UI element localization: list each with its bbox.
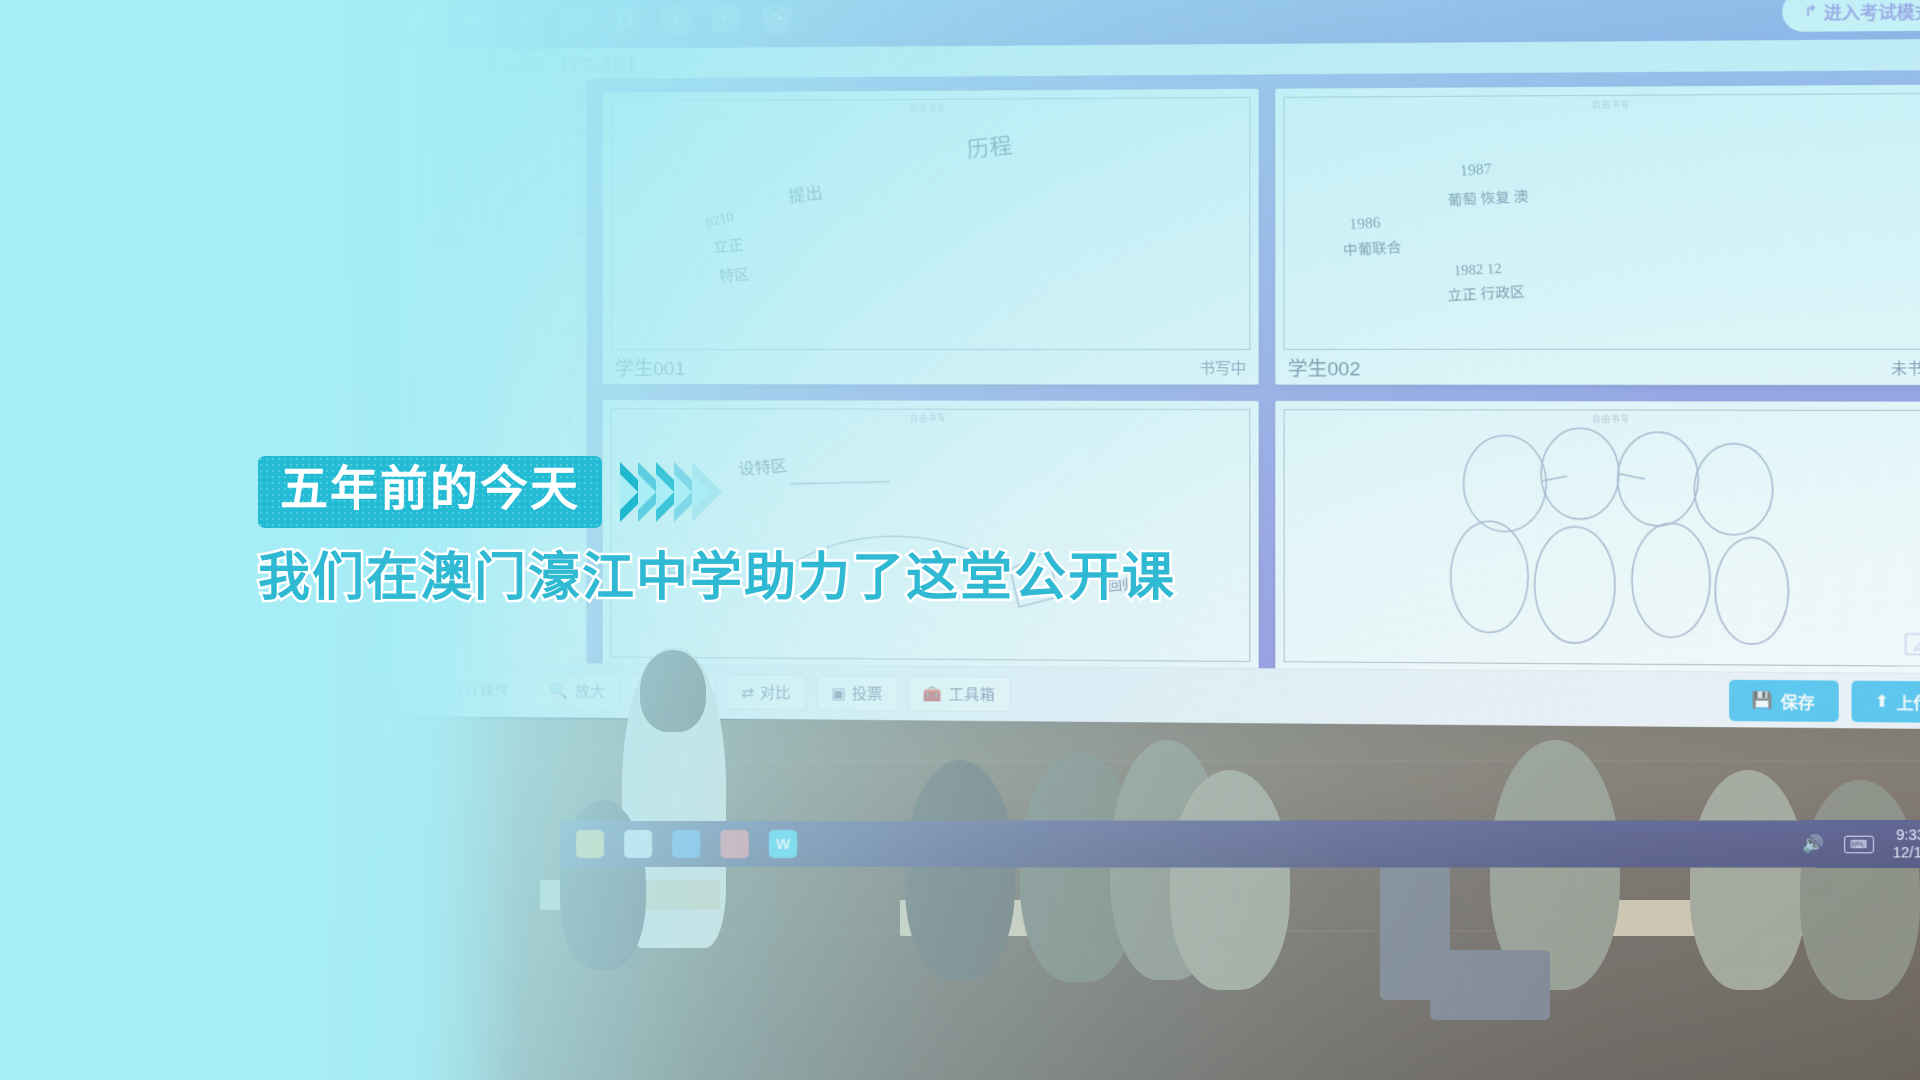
toolbar-button-label: 放大	[575, 680, 605, 701]
sidebar-item-label: 学生011	[410, 546, 559, 567]
whiteboard-canvas[interactable]: 自由书写	[1284, 409, 1920, 667]
pencil-icon[interactable]	[559, 97, 575, 113]
app-subbar-title: 课堂互动 · 高一历史 【学生演板】	[414, 53, 643, 76]
student-list-sidebar[interactable]: 学生001学生002学生003学生004学生005学生006学生007学生008…	[396, 79, 587, 718]
undo-icon[interactable]: ↶	[712, 5, 740, 33]
sidebar-item-11[interactable]: 学生011	[396, 534, 586, 580]
sidebar-item-label: 学生004	[410, 231, 559, 251]
sidebar-item-6[interactable]: 学生006	[396, 309, 586, 354]
sidebar-item-7[interactable]: 学生007	[396, 354, 586, 399]
toolbar-button-工具箱[interactable]: 🧰工具箱	[908, 676, 1010, 712]
handwriting-ink: 1982 12	[1453, 262, 1502, 281]
sidebar-item-label: 学生007	[410, 366, 559, 386]
pen-icon[interactable]: ✎	[510, 7, 538, 35]
sidebar-item-label: 学生006	[410, 321, 559, 341]
clock-date: 12/18/20	[1893, 844, 1920, 861]
handwriting-ink: 回归	[1107, 574, 1138, 597]
sidebar-item-5[interactable]: 学生005	[396, 264, 586, 309]
clock-time: 9:33 AM	[1893, 827, 1920, 844]
sidebar-item-3[interactable]: 学生003	[396, 173, 586, 219]
vote-icon: ▣	[831, 684, 845, 702]
text-icon[interactable]: T	[661, 6, 689, 34]
handwriting-ink: 历程	[661, 562, 691, 584]
student-silhouette	[1690, 770, 1806, 990]
handwriting-ink: 葡萄 恢复 澳	[1447, 185, 1529, 210]
handwriting-ink: 1986	[1349, 215, 1381, 234]
handwriting-ink: 8210	[705, 209, 736, 232]
handwriting-ink: 立正 行政区	[1447, 281, 1525, 306]
student-board-grid: 自由书写历程提出8210立正特区学生001书写中自由书写1987葡萄 恢复 澳1…	[587, 70, 1920, 729]
windows-taskbar[interactable]: W 🔊 ⌨ 9:33 AM 12/18/20	[560, 820, 1920, 868]
sidebar-item-label: 学生001	[410, 95, 559, 116]
toolbar-button-label: 工具箱	[949, 683, 995, 705]
sidebar-item-8[interactable]: 学生008	[396, 399, 586, 444]
enter-exam-mode-button[interactable]: ↱ 进入考试模式	[1783, 0, 1920, 31]
pencil-icon[interactable]	[559, 323, 575, 339]
toolbar-button-label: 对比	[760, 682, 791, 703]
browser-icon[interactable]	[672, 830, 700, 858]
folder-open-icon: 🗁	[425, 677, 444, 702]
toolbar-button-label: 投票	[852, 682, 883, 703]
zoom-in-icon: 🔍	[550, 682, 569, 700]
handwriting-ink: 设特区	[737, 452, 788, 480]
pencil-icon[interactable]	[559, 232, 575, 248]
sidebar-item-label: 学生005	[410, 276, 559, 296]
upload-icon: ⬆	[1875, 691, 1889, 712]
toolbar-primary-label: 上传	[1896, 689, 1920, 714]
whiteboard-canvas[interactable]: 自由书写历程提出8210立正特区	[611, 97, 1251, 350]
student-card[interactable]: 自由书写历程提出8210立正特区学生001书写中	[603, 89, 1259, 385]
sidebar-item-1[interactable]: 学生001	[396, 83, 586, 129]
eraser-icon[interactable]: ▱	[560, 6, 588, 34]
grid-icon[interactable]: ▦	[410, 8, 438, 36]
student-card[interactable]: 自由书写设特区历程回归学生003书写中	[603, 400, 1259, 697]
pencil-icon[interactable]	[559, 142, 575, 158]
handwriting-ink: 1987	[1460, 161, 1493, 181]
compare-icon: ⇄	[741, 683, 754, 701]
wps-office-icon[interactable]: W	[769, 830, 797, 858]
speaker-icon[interactable]: 🔊	[1803, 834, 1824, 855]
status-badge: 书写中	[1200, 357, 1247, 378]
toolbar-button-投票[interactable]: ▣投票	[816, 675, 898, 711]
sidebar-item-10[interactable]: 学生010	[396, 489, 586, 535]
toolbar-button-打开课件[interactable]: 🗁打开课件	[410, 670, 525, 710]
projected-app-screen: ▦ ▤ ✎ ▱ ◯ T ↶ ↷ ↱ 进入考试模式 课堂互动 · 高一历史 【学生…	[396, 0, 1920, 729]
shape-icon[interactable]: ◯	[611, 6, 639, 34]
layers-icon[interactable]: ▤	[460, 7, 488, 35]
canvas-tag-label: 自由书写	[1592, 99, 1630, 111]
sidebar-item-label: 学生009	[410, 456, 559, 476]
canvas-tag-label: 自由书写	[910, 103, 947, 114]
student-name-label: 学生001	[615, 353, 685, 380]
handwriting-ink: 提出	[787, 178, 825, 208]
header-icon-group: ▦ ▤ ✎ ▱ ◯ T ↶ ↷	[410, 5, 791, 36]
pencil-icon[interactable]	[559, 458, 575, 474]
toolbar-primary-保存[interactable]: 💾保存	[1729, 679, 1839, 721]
toolbar-button-放大[interactable]: 🔍放大	[535, 673, 620, 709]
handwriting-ink: 立正	[712, 234, 744, 257]
sidebar-item-9[interactable]: 学生009	[396, 444, 586, 490]
toolbar-primary-label: 保存	[1781, 688, 1815, 713]
sidebar-item-2[interactable]: 学生002	[396, 128, 586, 174]
chair	[1430, 950, 1550, 1020]
sidebar-item-4[interactable]: 学生004	[396, 218, 586, 264]
pencil-icon[interactable]	[559, 278, 575, 294]
student-name-label: 学生002	[1288, 353, 1361, 381]
student-silhouette	[1800, 780, 1920, 1000]
status-badge: 未书写	[1891, 357, 1920, 379]
redo-icon[interactable]: ↷	[763, 5, 791, 33]
toolbar-primary-上传[interactable]: ⬆上传	[1851, 680, 1920, 722]
classroom-photo: ▦ ▤ ✎ ▱ ◯ T ↶ ↷ ↱ 进入考试模式 课堂互动 · 高一历史 【学生…	[0, 0, 1920, 1080]
system-tray[interactable]: 🔊 ⌨ 9:33 AM 12/18/20	[1803, 827, 1920, 861]
sidebar-item-label: 学生010	[410, 501, 559, 522]
pencil-icon[interactable]	[559, 187, 575, 203]
pencil-icon[interactable]	[559, 549, 575, 565]
network-icon[interactable]	[624, 830, 652, 858]
toolbar-button-对比[interactable]: ⇄对比	[726, 674, 806, 710]
student-card[interactable]: 自由书写1987葡萄 恢复 澳1986中葡联合1982 12立正 行政区学生00…	[1275, 85, 1920, 386]
student-silhouette	[905, 760, 1015, 980]
screenshot-root: ▦ ▤ ✎ ▱ ◯ T ↶ ↷ ↱ 进入考试模式 课堂互动 · 高一历史 【学生…	[0, 0, 1920, 1080]
media-player-icon[interactable]	[720, 830, 748, 858]
teacher-head	[640, 650, 706, 732]
handwriting-ink: 特区	[718, 264, 750, 287]
student-silhouette	[1170, 770, 1290, 990]
handwriting-ink: 中葡联合	[1343, 237, 1402, 261]
toolbox-icon: 🧰	[923, 684, 942, 702]
student-card-footer: 学生001书写中	[611, 350, 1251, 385]
sidebar-item-label: 学生008	[410, 411, 559, 431]
file-explorer-icon[interactable]	[576, 830, 604, 858]
whiteboard-canvas[interactable]: 自由书写1987葡萄 恢复 澳1986中葡联合1982 12立正 行政区	[1284, 93, 1920, 350]
sidebar-item-label: 学生003	[410, 185, 559, 206]
student-card[interactable]: 自由书写学生004书写中	[1275, 401, 1920, 702]
taskbar-clock[interactable]: 9:33 AM 12/18/20	[1893, 827, 1920, 861]
enter-exam-mode-label: 进入考试模式	[1824, 0, 1920, 24]
handwriting-ink: 历程	[965, 127, 1013, 164]
whiteboard-canvas[interactable]: 自由书写设特区历程回归	[611, 408, 1251, 662]
sidebar-scrollbar[interactable]	[576, 87, 583, 519]
pencil-icon[interactable]	[559, 413, 575, 429]
keyboard-icon[interactable]: ⌨	[1844, 835, 1874, 853]
arrow-enter-icon: ↱	[1804, 2, 1817, 21]
save-icon: 💾	[1752, 690, 1773, 711]
toolbar-button-label: 打开课件	[450, 679, 510, 701]
app-body: 学生001学生002学生003学生004学生005学生006学生007学生008…	[396, 70, 1920, 729]
student-card-footer: 学生002未书写	[1284, 350, 1920, 385]
pencil-icon[interactable]	[559, 368, 575, 384]
sidebar-item-label: 学生002	[410, 140, 559, 161]
